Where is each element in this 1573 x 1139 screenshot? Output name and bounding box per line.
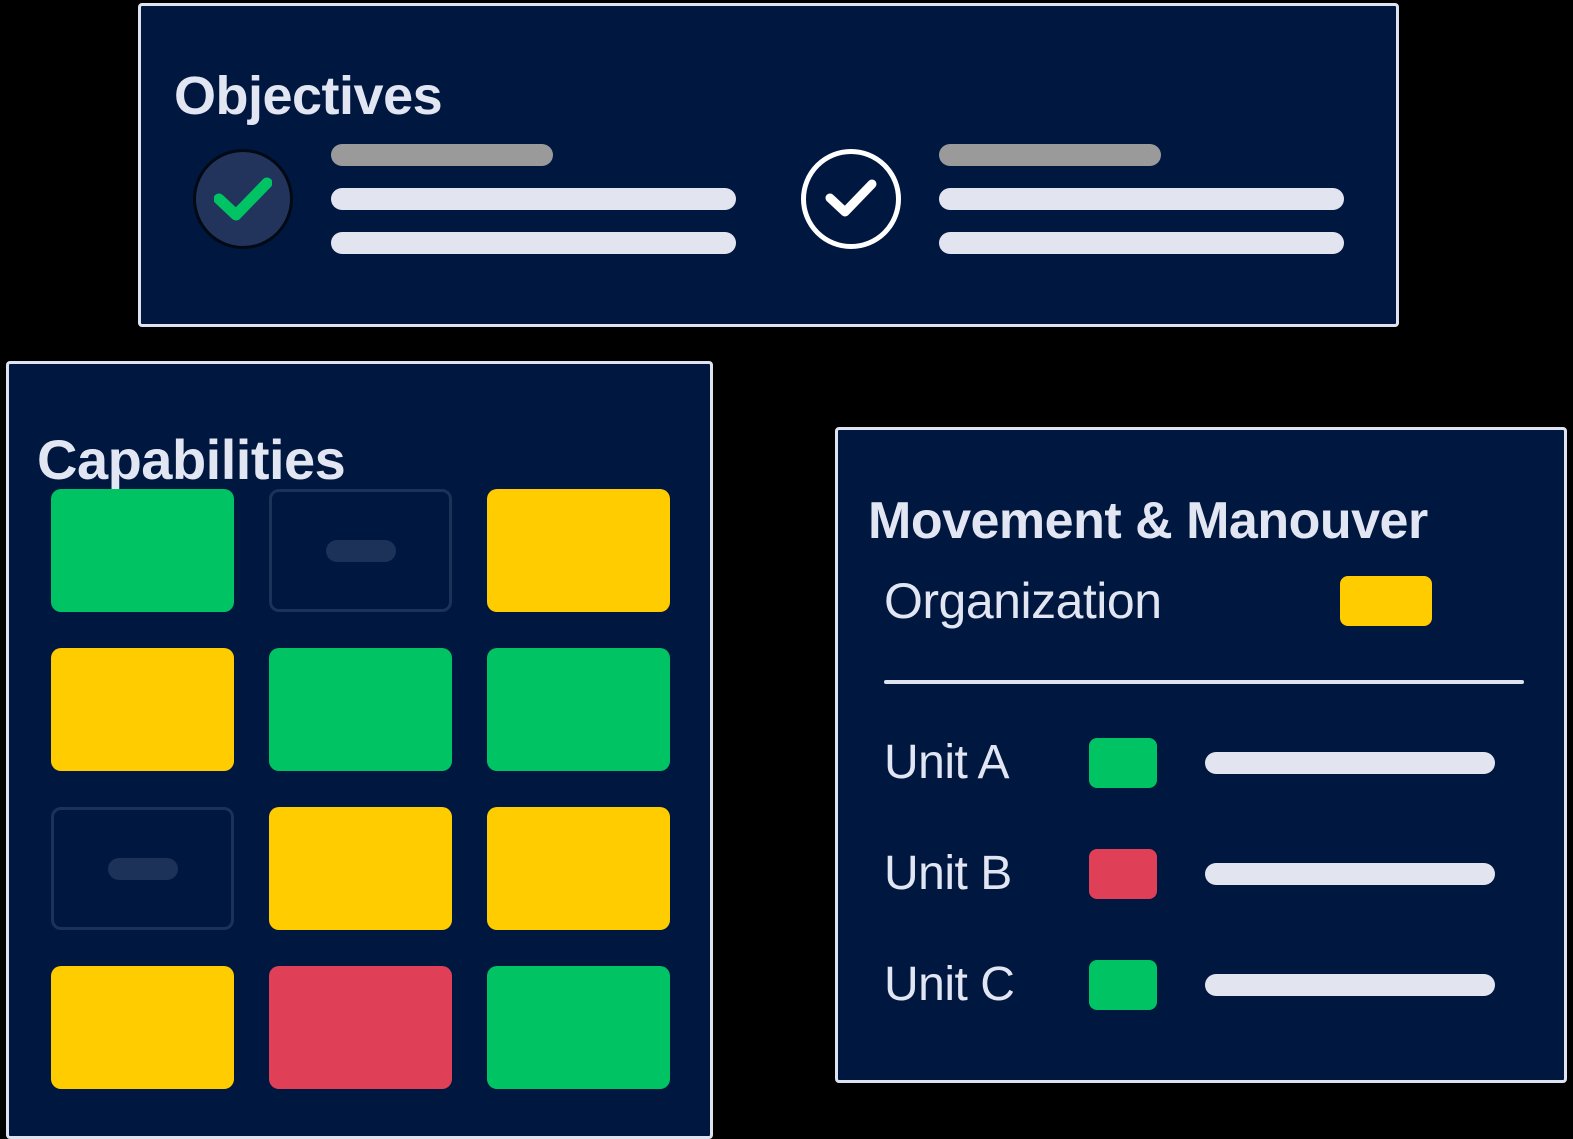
capability-tile-empty[interactable]: [269, 489, 452, 612]
unit-status-swatch[interactable]: [1089, 738, 1157, 788]
dash-icon: [326, 540, 396, 562]
capability-tile[interactable]: [51, 648, 234, 771]
objective-item[interactable]: [801, 144, 1344, 254]
unit-placeholder-bar: [1205, 752, 1495, 774]
objectives-title: Objectives: [174, 69, 442, 123]
placeholder-bar-line: [331, 188, 736, 210]
unit-row[interactable]: Unit B: [884, 846, 1534, 901]
objectives-card: Objectives: [138, 3, 1399, 327]
check-circle-outline-icon: [801, 149, 901, 249]
objective-text-placeholder-group: [939, 144, 1344, 254]
organization-label: Organization: [884, 572, 1162, 630]
capability-tile[interactable]: [269, 807, 452, 930]
capability-tile-empty[interactable]: [51, 807, 234, 930]
placeholder-bar-line: [939, 188, 1344, 210]
section-divider: [884, 680, 1524, 684]
unit-row[interactable]: Unit A: [884, 735, 1534, 790]
capability-status-grid: [51, 489, 670, 1089]
capabilities-card: Capabilities: [6, 361, 713, 1139]
placeholder-bar-line: [939, 232, 1344, 254]
unit-status-swatch[interactable]: [1089, 960, 1157, 1010]
capability-tile[interactable]: [487, 807, 670, 930]
placeholder-bar-line: [331, 232, 736, 254]
organization-status-swatch[interactable]: [1340, 576, 1432, 626]
capability-tile[interactable]: [487, 966, 670, 1089]
capability-tile[interactable]: [487, 648, 670, 771]
objective-text-placeholder-group: [331, 144, 736, 254]
placeholder-bar-heading: [939, 144, 1161, 166]
unit-placeholder-bar: [1205, 863, 1495, 885]
unit-label: Unit A: [884, 735, 1089, 790]
capability-tile[interactable]: [269, 966, 452, 1089]
capability-tile[interactable]: [269, 648, 452, 771]
unit-label: Unit C: [884, 957, 1089, 1012]
capability-tile[interactable]: [51, 966, 234, 1089]
movement-and-manouver-card: Movement & Manouver Organization Unit A …: [835, 427, 1567, 1083]
movement-title: Movement & Manouver: [868, 495, 1428, 547]
objective-item[interactable]: [193, 144, 736, 254]
capability-tile[interactable]: [487, 489, 670, 612]
organization-row[interactable]: Organization: [884, 572, 1524, 630]
unit-status-swatch[interactable]: [1089, 849, 1157, 899]
capabilities-title: Capabilities: [37, 432, 345, 488]
dash-icon: [108, 858, 178, 880]
unit-placeholder-bar: [1205, 974, 1495, 996]
unit-label: Unit B: [884, 846, 1089, 901]
unit-list: Unit A Unit B Unit C: [884, 735, 1534, 1012]
placeholder-bar-heading: [331, 144, 553, 166]
check-circle-filled-icon: [193, 149, 293, 249]
unit-row[interactable]: Unit C: [884, 957, 1534, 1012]
capability-tile[interactable]: [51, 489, 234, 612]
